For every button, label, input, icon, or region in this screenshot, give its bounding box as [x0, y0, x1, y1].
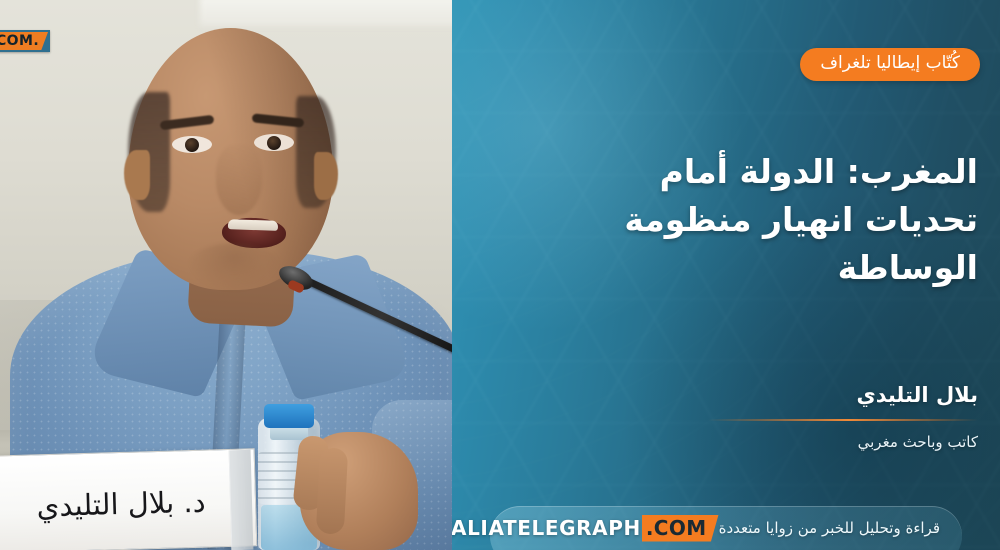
article-headline: المغرب: الدولة أمام تحديات انهيار منظومة… [578, 148, 978, 292]
author-block: بلال التليدي كاتب وباحث مغربي [708, 382, 978, 453]
photo-subject-eye-right [254, 134, 294, 151]
author-role: كاتب وباحث مغربي [708, 433, 978, 453]
author-name: بلال التليدي [708, 382, 978, 409]
desk-nameplate-holder [229, 450, 254, 550]
article-photo: د. بلال التليدي .COM [0, 0, 452, 550]
water-bottle-neck [270, 426, 308, 440]
author-divider [708, 419, 978, 421]
site-tagline: قراءة وتحليل للخبر من زوايا متعددة [719, 519, 940, 537]
article-share-card: د. بلال التليدي .COM كُتّاب إيطاليا تلغر… [0, 0, 1000, 550]
photo-wall-panel [200, 0, 452, 26]
photo-subject-finger-2 [316, 447, 348, 534]
footer-bar: قراءة وتحليل للخبر من زوايا متعددة ITALI… [490, 506, 962, 550]
site-brand-logo[interactable]: ITALIATELEGRAPH .COM [452, 515, 719, 542]
photo-subject-teeth [228, 219, 278, 231]
desk-nameplate-text: د. بلال التليدي [36, 485, 206, 524]
photo-watermark-logo: .COM [0, 30, 50, 52]
photo-subject-eye-left [172, 136, 212, 153]
site-brand-tld: .COM [642, 515, 719, 542]
water-bottle-cap [264, 404, 314, 428]
photo-watermark-tld: .COM [0, 32, 48, 50]
photo-subject-chin [188, 243, 280, 291]
category-badge[interactable]: كُتّاب إيطاليا تلغراف [800, 48, 980, 81]
content-panel: كُتّاب إيطاليا تلغراف المغرب: الدولة أما… [452, 0, 1000, 550]
photo-subject-nose [216, 145, 262, 215]
desk-nameplate: د. بلال التليدي [0, 448, 257, 550]
photo-subject-ear-left [124, 150, 150, 200]
site-brand-name: ITALIATELEGRAPH [452, 516, 641, 540]
